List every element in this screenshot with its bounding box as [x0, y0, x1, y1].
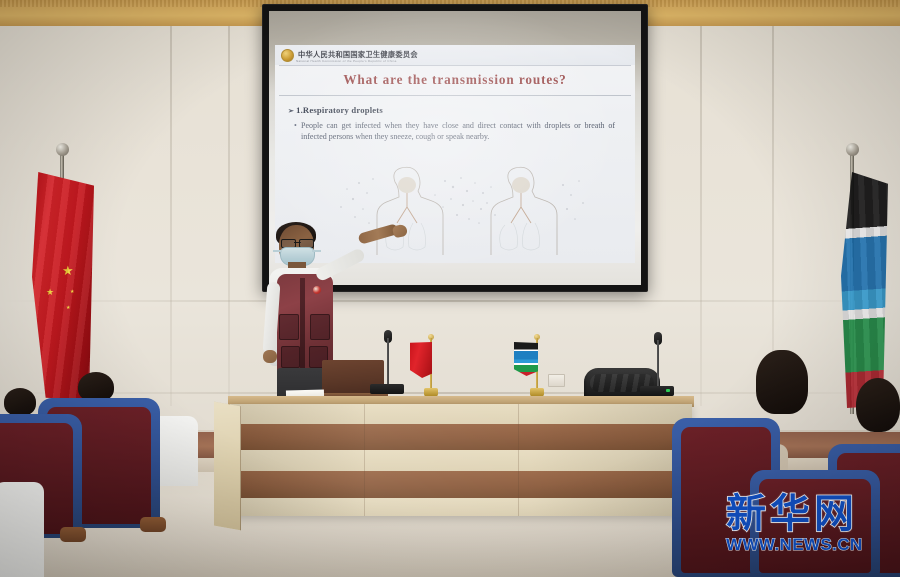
microphone-led-indicator	[666, 389, 670, 392]
south-sudan-desk-flag-cloth	[514, 342, 538, 376]
flag-star-icon: ★	[66, 306, 70, 311]
watermark-url: WWW.NEWS.CN	[726, 535, 894, 555]
slide-heading-row: ➢ 1.Respiratory droplets	[288, 105, 635, 115]
flag-star-icon: ★	[62, 264, 74, 277]
flag-star-icon: ★	[46, 288, 54, 297]
wall-seam	[700, 26, 702, 406]
glasses-icon	[281, 239, 314, 246]
microphone-gooseneck	[657, 340, 659, 388]
table-cloth	[230, 404, 692, 516]
wall-panel-line	[0, 300, 900, 302]
slide-title: What are the transmission routes?	[275, 72, 635, 88]
audience-head	[756, 350, 808, 414]
presenter-vest	[277, 274, 333, 374]
slide-header: 中华人民共和国国家卫生健康委员会 National Health Commiss…	[275, 45, 635, 65]
flagpole-finial-icon	[846, 143, 859, 156]
mask-strap-right	[312, 250, 321, 252]
wall-seam	[772, 26, 774, 406]
screenshot-root: 中华人民共和国国家卫生健康委员会 National Health Commiss…	[0, 0, 900, 577]
audience-head	[856, 378, 900, 432]
audience-body	[0, 482, 44, 577]
microphone-base	[370, 384, 404, 394]
microphone-gooseneck	[387, 338, 389, 386]
presenter-pointing-hand	[392, 224, 408, 239]
slide-heading: 1.Respiratory droplets	[296, 105, 383, 115]
organization-name-en: National Health Commission of the People…	[296, 59, 397, 63]
slide-header-divider	[279, 65, 631, 66]
wall-seam	[228, 26, 230, 406]
cloth-shading	[230, 404, 692, 516]
flagpole-finial-icon	[56, 143, 69, 156]
mask-strap-left	[273, 250, 282, 252]
watermark-chinese-text: 新华网	[726, 492, 894, 536]
xinhua-watermark: 新华网 WWW.NEWS.CN	[726, 492, 894, 566]
slide-body-row: • People can get infected when they have…	[301, 120, 615, 143]
presenter-resting-hand	[263, 350, 277, 363]
vest-pocket	[279, 314, 299, 340]
national-emblem-icon	[281, 49, 294, 62]
bullet-dot-icon: •	[294, 120, 297, 131]
wall-flag-south-sudan	[836, 152, 900, 414]
china-flag-cloth: ★ ★ ★ ★	[32, 172, 94, 400]
slide-title-underline	[279, 95, 631, 96]
wall-outlet	[548, 374, 565, 387]
seat-armrest	[140, 517, 166, 532]
desk-flag-south-sudan	[530, 338, 546, 400]
south-sudan-flag-cloth	[838, 172, 888, 408]
table-cloth-corner	[214, 402, 241, 531]
caret-icon: ➢	[288, 107, 294, 115]
vest-pocket	[310, 314, 330, 340]
wall-seam	[170, 26, 172, 406]
slide-body-text: People can get infected when they have c…	[301, 121, 615, 141]
audience-head	[4, 388, 36, 416]
seat-armrest	[60, 527, 86, 542]
microphone-right	[652, 332, 686, 398]
presenter-upper-arm	[314, 247, 366, 282]
vest-pocket	[281, 346, 300, 368]
flag-star-icon: ★	[70, 290, 74, 295]
desk-flag-china	[424, 338, 440, 400]
vest-badge-icon	[313, 286, 321, 294]
